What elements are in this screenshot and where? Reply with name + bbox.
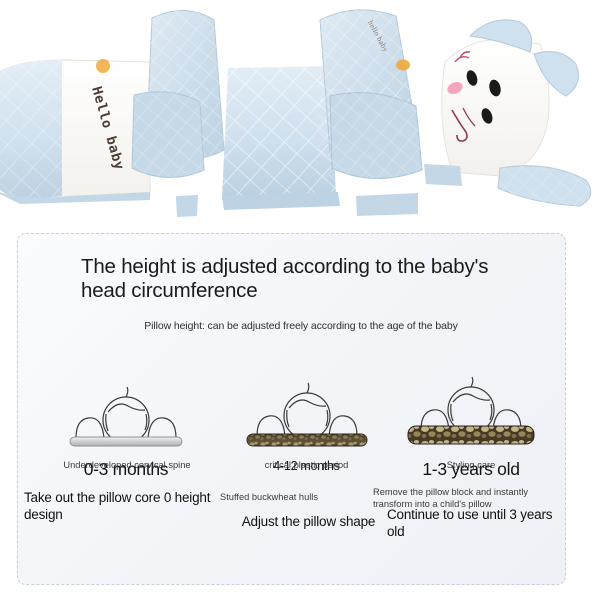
height-adjustment-panel: The height is adjusted according to the … bbox=[17, 233, 566, 585]
baby-on-flat-pillow-figure bbox=[26, 364, 226, 456]
product-infographic-page: Hello baby bbox=[0, 0, 600, 600]
child-on-thick-buckwheat-pillow-figure bbox=[375, 364, 567, 456]
age-stage-columns: 0-3 months Underdeveloped cervical spine… bbox=[18, 364, 567, 584]
pillow-left-endcap bbox=[0, 58, 150, 204]
stage-action-text: Adjust the pillow shape bbox=[206, 514, 411, 531]
stage-condition-note: critical plastic period bbox=[214, 459, 399, 471]
stage-condition-note: Underdeveloped cervical spine bbox=[32, 459, 222, 471]
panel-headline: The height is adjusted according to the … bbox=[81, 255, 521, 303]
stage-condition-note: Styling care bbox=[375, 459, 567, 471]
baby-on-buckwheat-pillow-figure bbox=[214, 364, 399, 456]
stage-column-0-3-months: 0-3 months Underdeveloped cervical spine… bbox=[26, 364, 226, 480]
product-photo: Hello baby bbox=[0, 0, 600, 222]
panel-subheadline: Pillow height: can be adjusted freely ac… bbox=[66, 320, 536, 332]
stage-column-1-3-years: 1-3 years old Styling care Remove the pi… bbox=[375, 364, 567, 480]
stage-filling-note: Stuffed buckwheat hulls bbox=[220, 491, 380, 503]
stage-column-4-12-months: 4-12 months critical plastic period Stuf… bbox=[214, 364, 399, 473]
bear-head bbox=[442, 20, 579, 176]
stage-action-text: Continue to use until 3 years old bbox=[387, 507, 572, 541]
